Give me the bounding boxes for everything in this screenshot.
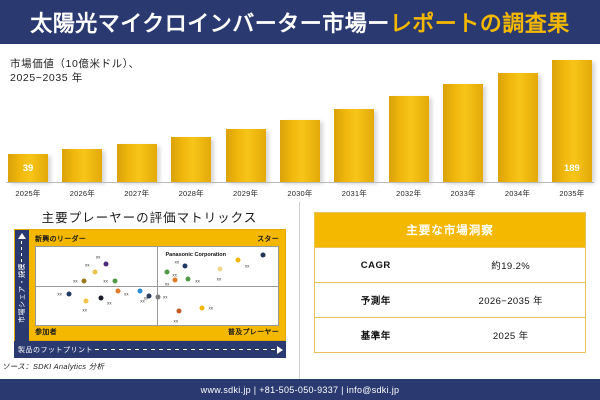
matrix-point-label: xx xyxy=(195,278,200,283)
bar-column xyxy=(280,52,320,182)
report-infographic: 太陽光マイクロインバーター市場ーレポートの調査果 市場価値（10億米ドル）、 2… xyxy=(0,0,600,400)
x-axis-tick-label: 2034年 xyxy=(498,188,538,199)
footer-contact-text: www.sdki.jp | +81-505-050-9337 | info@sd… xyxy=(201,385,400,395)
bar-column xyxy=(62,52,102,182)
bar xyxy=(443,84,483,182)
bar xyxy=(334,109,374,182)
matrix-point-label: xx xyxy=(85,262,90,267)
bar xyxy=(389,96,429,182)
bar xyxy=(62,149,102,182)
matrix-point-label: xx xyxy=(175,259,180,264)
matrix-point-label: xx xyxy=(82,307,87,312)
bar-column xyxy=(443,52,483,182)
x-axis-tick-label: 2028年 xyxy=(171,188,211,199)
matrix-data-point xyxy=(82,279,87,284)
quadrant-label-bottom-right: 普及プレーヤー xyxy=(228,327,279,337)
arrow-right-icon xyxy=(277,346,283,354)
matrix-data-point xyxy=(217,266,222,271)
x-axis-tick-label: 2025年 xyxy=(8,188,48,199)
footer-bar: www.sdki.jp | +81-505-050-9337 | info@sd… xyxy=(0,379,600,400)
quadrant-label-top-right: スター xyxy=(257,234,279,244)
bar-chart: 市場価値（10億米ドル）、 2025−2035 年 39189 2025年202… xyxy=(0,44,600,202)
matrix-point-label: xx xyxy=(96,255,101,260)
matrix-data-point xyxy=(182,263,187,268)
insight-value: 約19.2% xyxy=(436,248,585,283)
matrix-data-point xyxy=(199,305,204,310)
x-axis-tick-label: 2030年 xyxy=(280,188,320,199)
x-axis-tick-label: 2031年 xyxy=(334,188,374,199)
insight-key: CAGR xyxy=(315,248,437,283)
chart-axis-line xyxy=(6,182,594,183)
matrix-frame: 市場シェア・規模 新興のリーダー スター 参加者 普及プレーヤー xxxxxxx… xyxy=(14,229,286,341)
matrix-x-axis-label: 製品のフットプリント xyxy=(18,345,93,355)
matrix-x-axis: 製品のフットプリント xyxy=(14,341,286,358)
insight-key: 予測年 xyxy=(315,283,437,318)
matrix-y-axis: 市場シェア・規模 xyxy=(15,230,29,342)
bar: 39 xyxy=(8,154,48,182)
page-title-accent: レポートの調査果 xyxy=(390,11,570,36)
matrix-data-point xyxy=(66,291,71,296)
bar-column xyxy=(226,52,266,182)
matrix-data-point xyxy=(186,276,191,281)
matrix-point-label: xx xyxy=(107,300,112,305)
matrix-data-point xyxy=(176,308,181,313)
x-axis-tick-label: 2027年 xyxy=(117,188,157,199)
matrix-point-label: xx xyxy=(261,252,266,257)
matrix-data-point xyxy=(138,289,143,294)
insight-value: 2025 年 xyxy=(436,318,585,353)
bar-value-label: 189 xyxy=(552,163,592,174)
matrix-point-label: xx xyxy=(245,264,250,269)
bar-value-label: 39 xyxy=(8,163,48,174)
bar xyxy=(226,129,266,182)
lower-section: 主要プレーヤーの評価マトリックス 市場シェア・規模 新興のリーダー スター 参加… xyxy=(0,202,600,379)
matrix-point-label: xx xyxy=(140,299,145,304)
key-insights-panel: 主要な市場洞察 CAGR約19.2%予測年2026−2035 年基準年2025 … xyxy=(300,202,600,379)
matrix-data-point xyxy=(104,262,109,267)
insight-key: 基準年 xyxy=(315,318,437,353)
page-title: 太陽光マイクロインバーター市場ーレポートの調査果 xyxy=(30,6,570,38)
bar-column xyxy=(498,52,538,182)
header-banner: 太陽光マイクロインバーター市場ーレポートの調査果 xyxy=(0,0,600,44)
matrix-point-label: xx xyxy=(57,291,62,296)
x-axis-tick-label: 2035年 xyxy=(552,188,592,199)
matrix-point-label: xx xyxy=(165,281,170,286)
bar-column xyxy=(171,52,211,182)
matrix-point-label: xx xyxy=(217,276,222,281)
matrix-data-point xyxy=(83,298,88,303)
matrix-data-point xyxy=(146,294,151,299)
matrix-point-label: xx xyxy=(73,279,78,284)
matrix-data-point xyxy=(116,288,121,293)
chart-x-axis-labels: 2025年2026年2027年2028年2029年2030年2031年2032年… xyxy=(8,188,592,199)
x-axis-tick-label: 2033年 xyxy=(443,188,483,199)
matrix-plot-area: xxxxxxxxxxxxxxxxxxxxxxxxxxxxxxxxxxxxxxxx… xyxy=(35,246,279,326)
bar-series: 39189 xyxy=(8,52,592,182)
page-title-main: 太陽光マイクロインバーター市場ー xyxy=(30,11,390,36)
evaluation-matrix-panel: 主要プレーヤーの評価マトリックス 市場シェア・規模 新興のリーダー スター 参加… xyxy=(0,202,300,379)
bar-column: 189 xyxy=(552,52,592,182)
arrow-up-icon xyxy=(18,233,26,239)
matrix-divider-vertical xyxy=(157,247,158,325)
insight-value: 2026−2035 年 xyxy=(436,283,585,318)
matrix-named-player-label: Panasonic Corporation xyxy=(165,252,226,258)
matrix-title: 主要プレーヤーの評価マトリックス xyxy=(0,207,299,226)
table-row: CAGR約19.2% xyxy=(315,248,586,283)
matrix-data-point xyxy=(99,295,104,300)
table-row: 予測年2026−2035 年 xyxy=(315,283,586,318)
matrix-point-label: xx xyxy=(163,295,168,300)
matrix-data-point xyxy=(156,295,161,300)
matrix-data-point xyxy=(236,258,241,263)
matrix-point-label: xx xyxy=(174,318,179,323)
matrix-data-point xyxy=(173,277,178,282)
matrix-point-label: xx xyxy=(124,291,129,296)
bar xyxy=(117,144,157,182)
source-note: ソース：SDKI Analytics 分析 xyxy=(2,361,104,372)
matrix-data-point xyxy=(164,269,169,274)
key-insights-header: 主要な市場洞察 xyxy=(315,213,586,248)
matrix-point-label: xx xyxy=(209,305,214,310)
bar xyxy=(171,137,211,182)
bar xyxy=(498,73,538,182)
quadrant-label-bottom-left: 参加者 xyxy=(35,327,57,337)
bar: 189 xyxy=(552,60,592,182)
bar-column: 39 xyxy=(8,52,48,182)
bar-column xyxy=(334,52,374,182)
matrix-data-point xyxy=(93,269,98,274)
bar-column xyxy=(117,52,157,182)
quadrant-label-top-left: 新興のリーダー xyxy=(35,234,86,244)
bar xyxy=(280,120,320,182)
x-axis-tick-label: 2026年 xyxy=(62,188,102,199)
table-row: 基準年2025 年 xyxy=(315,318,586,353)
dashed-line-horizontal xyxy=(95,349,275,350)
x-axis-tick-label: 2029年 xyxy=(226,188,266,199)
matrix-data-point xyxy=(112,278,117,283)
key-insights-table: 主要な市場洞察 CAGR約19.2%予測年2026−2035 年基準年2025 … xyxy=(314,212,586,353)
matrix-y-axis-label: 市場シェア・規模 xyxy=(17,254,27,332)
bar-column xyxy=(389,52,429,182)
matrix-point-label: xx xyxy=(103,278,108,283)
x-axis-tick-label: 2032年 xyxy=(389,188,429,199)
